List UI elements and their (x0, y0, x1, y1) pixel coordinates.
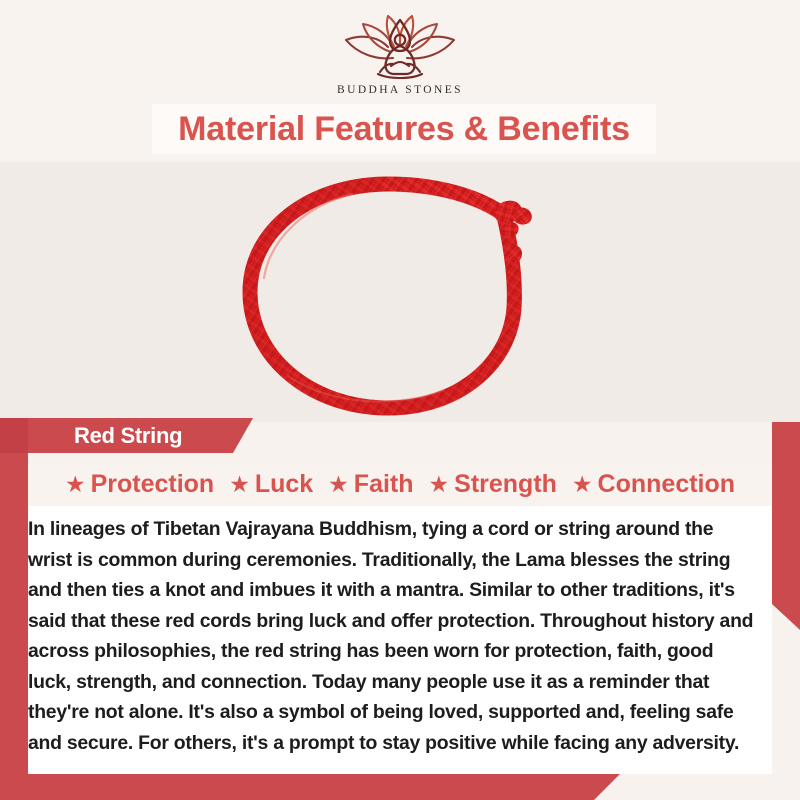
star-icon: ★ (65, 473, 86, 496)
bottom-red-accent-bar (0, 774, 620, 800)
brand-logo: BUDDHA STONES (0, 14, 800, 96)
benefit-label: Strength (454, 470, 557, 499)
brand-name: BUDDHA STONES (337, 84, 463, 96)
star-icon: ★ (429, 473, 450, 496)
benefit-item-luck: ★ Luck (229, 470, 313, 499)
lotus-meditation-icon (336, 14, 464, 82)
benefit-item-faith: ★ Faith (328, 470, 413, 499)
infographic-page: BUDDHA STONES Material Features & Benefi… (0, 0, 800, 800)
material-ribbon: Red String (28, 418, 253, 453)
benefit-label: Luck (255, 470, 313, 499)
star-icon: ★ (572, 473, 593, 496)
benefits-strip: ★ Protection ★ Luck ★ Faith ★ Strength ★… (28, 462, 772, 506)
benefit-item-connection: ★ Connection (572, 470, 735, 499)
hero-section (0, 162, 800, 422)
description-panel: In lineages of Tibetan Vajrayana Buddhis… (28, 506, 772, 774)
benefit-label: Protection (91, 470, 215, 499)
benefit-item-protection: ★ Protection (65, 470, 214, 499)
description-text: In lineages of Tibetan Vajrayana Buddhis… (28, 514, 758, 758)
benefit-label: Faith (354, 470, 414, 499)
title-plaque: Material Features & Benefits (152, 104, 656, 154)
benefit-label: Connection (598, 470, 736, 499)
star-icon: ★ (328, 473, 349, 496)
red-string-bracelet-image (192, 158, 608, 426)
material-name: Red String (74, 423, 182, 449)
star-icon: ★ (229, 473, 250, 496)
benefit-item-strength: ★ Strength (429, 470, 557, 499)
ribbon-left-band (0, 418, 28, 453)
page-title: Material Features & Benefits (178, 110, 630, 149)
